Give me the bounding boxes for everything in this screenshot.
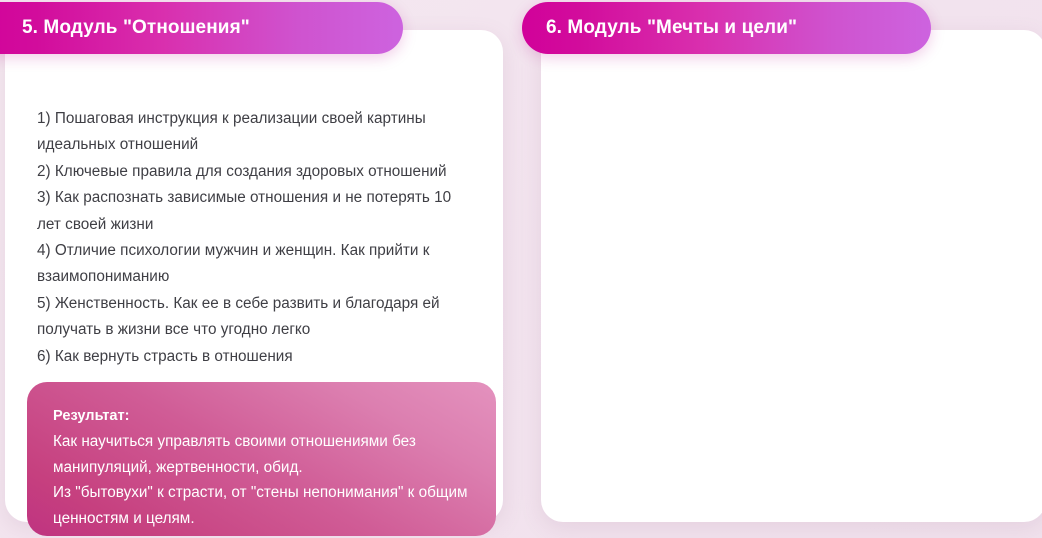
module-5-title-pill: 5. Модуль "Отношения" xyxy=(0,2,403,54)
module-6-title: 6. Модуль "Мечты и цели" xyxy=(546,17,797,39)
module-5-topics-list: 1) Пошаговая инструкция к реализации сво… xyxy=(37,106,477,370)
module-5-result-body: Как научиться управлять своими отношения… xyxy=(53,429,470,531)
module-card-relationships: 1) Пошаговая инструкция к реализации сво… xyxy=(5,30,503,522)
slide-canvas: 1) Пошаговая инструкция к реализации сво… xyxy=(0,0,1042,538)
module-card-dreams-and-goals: 1) Выявим ограничивающие убеждения во вс… xyxy=(541,30,1042,522)
module-5-title: 5. Модуль "Отношения" xyxy=(22,17,250,39)
module-5-result-heading: Результат: xyxy=(53,404,470,428)
module-6-title-pill: 6. Модуль "Мечты и цели" xyxy=(522,2,931,54)
module-5-result-box: Результат: Как научиться управлять своим… xyxy=(27,382,496,536)
